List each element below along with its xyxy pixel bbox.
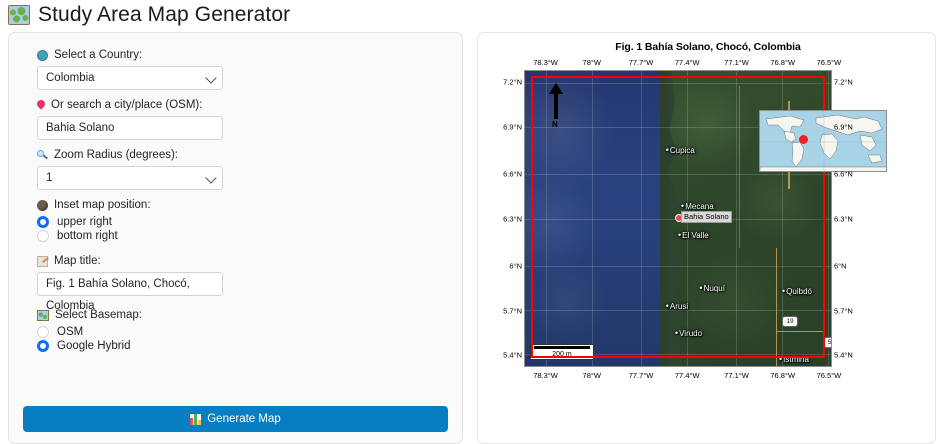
lon-tick-label: 76.8°W bbox=[770, 58, 795, 67]
map-preview-panel: Fig. 1 Bahía Solano, Chocó, Colombia bbox=[477, 32, 936, 444]
place-label: El Valle bbox=[678, 230, 709, 240]
radio-indicator[interactable] bbox=[37, 326, 49, 338]
inset-continents bbox=[760, 111, 887, 172]
lon-tick-label: 76.8°W bbox=[770, 371, 795, 380]
place-label: Cupica bbox=[666, 145, 695, 155]
lat-tick-label: 5.4°N bbox=[503, 351, 522, 360]
field-city-search: Or search a city/place (OSM): Bahia Sola… bbox=[37, 99, 440, 140]
place-label: Arusi bbox=[666, 301, 688, 311]
gridline-horizontal bbox=[525, 83, 831, 84]
lon-tick-label: 77.1°W bbox=[724, 58, 749, 67]
gridline-horizontal bbox=[525, 174, 831, 175]
scale-bar-line bbox=[534, 346, 590, 349]
zoom-select-wrap[interactable]: 1 bbox=[37, 166, 223, 190]
radio-label: Google Hybrid bbox=[57, 340, 131, 352]
field-basemap: Select Basemap: OSM Google Hybrid bbox=[37, 309, 440, 352]
bar-chart-icon bbox=[190, 414, 201, 425]
lat-tick-label: 6.9°N bbox=[503, 122, 522, 131]
zoom-label: Zoom Radius (degrees): bbox=[54, 149, 178, 161]
map-title-input[interactable]: Fig. 1 Bahía Solano, Chocó, Colombia bbox=[37, 272, 223, 296]
lat-tick-label: 6°N bbox=[509, 262, 522, 271]
field-country: Select a Country: Colombia bbox=[37, 49, 440, 90]
place-label: Istmina bbox=[779, 354, 809, 364]
map-title-label-row: Map title: bbox=[37, 255, 440, 267]
map-title-label: Map title: bbox=[54, 255, 101, 267]
map-icon bbox=[37, 310, 49, 321]
field-map-title: Map title: Fig. 1 Bahía Solano, Chocó, C… bbox=[37, 255, 440, 296]
zoom-label-row: Zoom Radius (degrees): bbox=[37, 149, 440, 161]
city-label-row: Or search a city/place (OSM): bbox=[37, 99, 440, 111]
lon-tick-label: 78.3°W bbox=[533, 371, 558, 380]
map-pin-icon bbox=[37, 100, 45, 111]
lat-tick-label: 6.9°N bbox=[834, 122, 853, 131]
field-zoom-radius: Zoom Radius (degrees): 1 bbox=[37, 149, 440, 190]
city-search-input[interactable]: Bahia Solano bbox=[37, 116, 223, 140]
radio-basemap-osm[interactable]: OSM bbox=[37, 326, 440, 338]
country-select[interactable]: Colombia bbox=[37, 66, 223, 90]
lon-tick-label: 77.4°W bbox=[675, 371, 700, 380]
field-inset-position: Inset map position: upper right bottom r… bbox=[37, 199, 440, 242]
globe-icon bbox=[37, 50, 48, 61]
page-title: Study Area Map Generator bbox=[38, 3, 290, 26]
lat-tick-label: 6.6°N bbox=[834, 170, 853, 179]
gridline-horizontal bbox=[525, 266, 831, 267]
road-line bbox=[776, 331, 825, 333]
map-plot-area: N Cupica Mecana El Valle Nuquí Arusi Vir… bbox=[524, 70, 832, 367]
zoom-radius-select[interactable]: 1 bbox=[37, 166, 223, 190]
lat-tick-label: 7.2°N bbox=[503, 77, 522, 86]
lon-tick-label: 77.4°W bbox=[675, 58, 700, 67]
radio-inset-bottom-right[interactable]: bottom right bbox=[37, 230, 440, 242]
lat-tick-label: 6.3°N bbox=[834, 214, 853, 223]
world-locator-inset bbox=[759, 110, 887, 172]
lon-tick-label: 77.1°W bbox=[724, 371, 749, 380]
radio-basemap-google-hybrid[interactable]: Google Hybrid bbox=[37, 340, 440, 352]
radio-inset-upper-right[interactable]: upper right bbox=[37, 216, 440, 228]
page-header: Study Area Map Generator bbox=[0, 0, 948, 32]
country-select-wrap[interactable]: Colombia bbox=[37, 66, 223, 90]
radio-label: bottom right bbox=[57, 230, 118, 242]
road-shield: 19 bbox=[782, 316, 798, 327]
lon-tick-label: 77.7°W bbox=[629, 58, 654, 67]
map-form: Select a Country: Colombia Or search a c… bbox=[9, 33, 462, 352]
place-label: Mecana bbox=[681, 201, 714, 211]
north-arrow-label: N bbox=[552, 120, 558, 129]
lat-tick-label: 6.3°N bbox=[503, 214, 522, 223]
memo-icon bbox=[37, 256, 48, 267]
lon-tick-label: 78.3°W bbox=[533, 58, 558, 67]
world-map-icon bbox=[8, 5, 30, 25]
lon-tick-label: 78°W bbox=[583, 371, 601, 380]
inset-label: Inset map position: bbox=[54, 199, 151, 211]
app-page: Study Area Map Generator Select a Countr… bbox=[0, 0, 948, 443]
generate-map-button[interactable]: Generate Map bbox=[23, 406, 448, 432]
lon-tick-label: 76.5°W bbox=[817, 58, 842, 67]
city-label: Or search a city/place (OSM): bbox=[51, 99, 202, 111]
round-pushpin-icon bbox=[37, 200, 48, 211]
lat-tick-label: 6°N bbox=[834, 262, 847, 271]
lon-tick-label: 77.7°W bbox=[629, 371, 654, 380]
road-line bbox=[776, 248, 778, 366]
lon-tick-label: 78°W bbox=[583, 58, 601, 67]
lat-tick-label: 6.6°N bbox=[503, 170, 522, 179]
controls-panel: Select a Country: Colombia Or search a c… bbox=[8, 32, 463, 444]
map-figure: Fig. 1 Bahía Solano, Chocó, Colombia bbox=[488, 37, 928, 437]
inset-label-row: Inset map position: bbox=[37, 199, 440, 211]
radio-label: OSM bbox=[57, 326, 83, 338]
scale-bar-label: 200 m bbox=[531, 350, 593, 359]
map-figure-title: Fig. 1 Bahía Solano, Chocó, Colombia bbox=[488, 37, 928, 53]
river-line bbox=[739, 86, 740, 248]
country-label: Select a Country: bbox=[54, 49, 142, 61]
place-label: Quibdó bbox=[782, 286, 812, 296]
road-shield: 50 bbox=[823, 337, 832, 348]
radio-indicator[interactable] bbox=[37, 216, 49, 228]
generate-map-label: Generate Map bbox=[207, 413, 281, 425]
radio-label: upper right bbox=[57, 216, 112, 228]
magnifier-icon bbox=[37, 150, 48, 161]
basemap-label-row: Select Basemap: bbox=[37, 309, 440, 321]
lat-tick-label: 5.7°N bbox=[503, 306, 522, 315]
place-label: Nuquí bbox=[699, 283, 725, 293]
lat-tick-label: 5.4°N bbox=[834, 351, 853, 360]
lon-tick-label: 76.5°W bbox=[817, 371, 842, 380]
lat-tick-label: 5.7°N bbox=[834, 306, 853, 315]
lat-tick-label: 7.2°N bbox=[834, 77, 853, 86]
north-arrow-icon: N bbox=[549, 83, 563, 129]
main-layout: Select a Country: Colombia Or search a c… bbox=[0, 32, 948, 444]
radio-indicator[interactable] bbox=[37, 230, 49, 242]
search-result-label: Bahia Solano bbox=[681, 211, 732, 223]
place-label: Virudo bbox=[675, 328, 702, 338]
country-label-row: Select a Country: bbox=[37, 49, 440, 61]
scale-bar: 200 m bbox=[530, 344, 594, 360]
radio-indicator[interactable] bbox=[37, 340, 49, 352]
